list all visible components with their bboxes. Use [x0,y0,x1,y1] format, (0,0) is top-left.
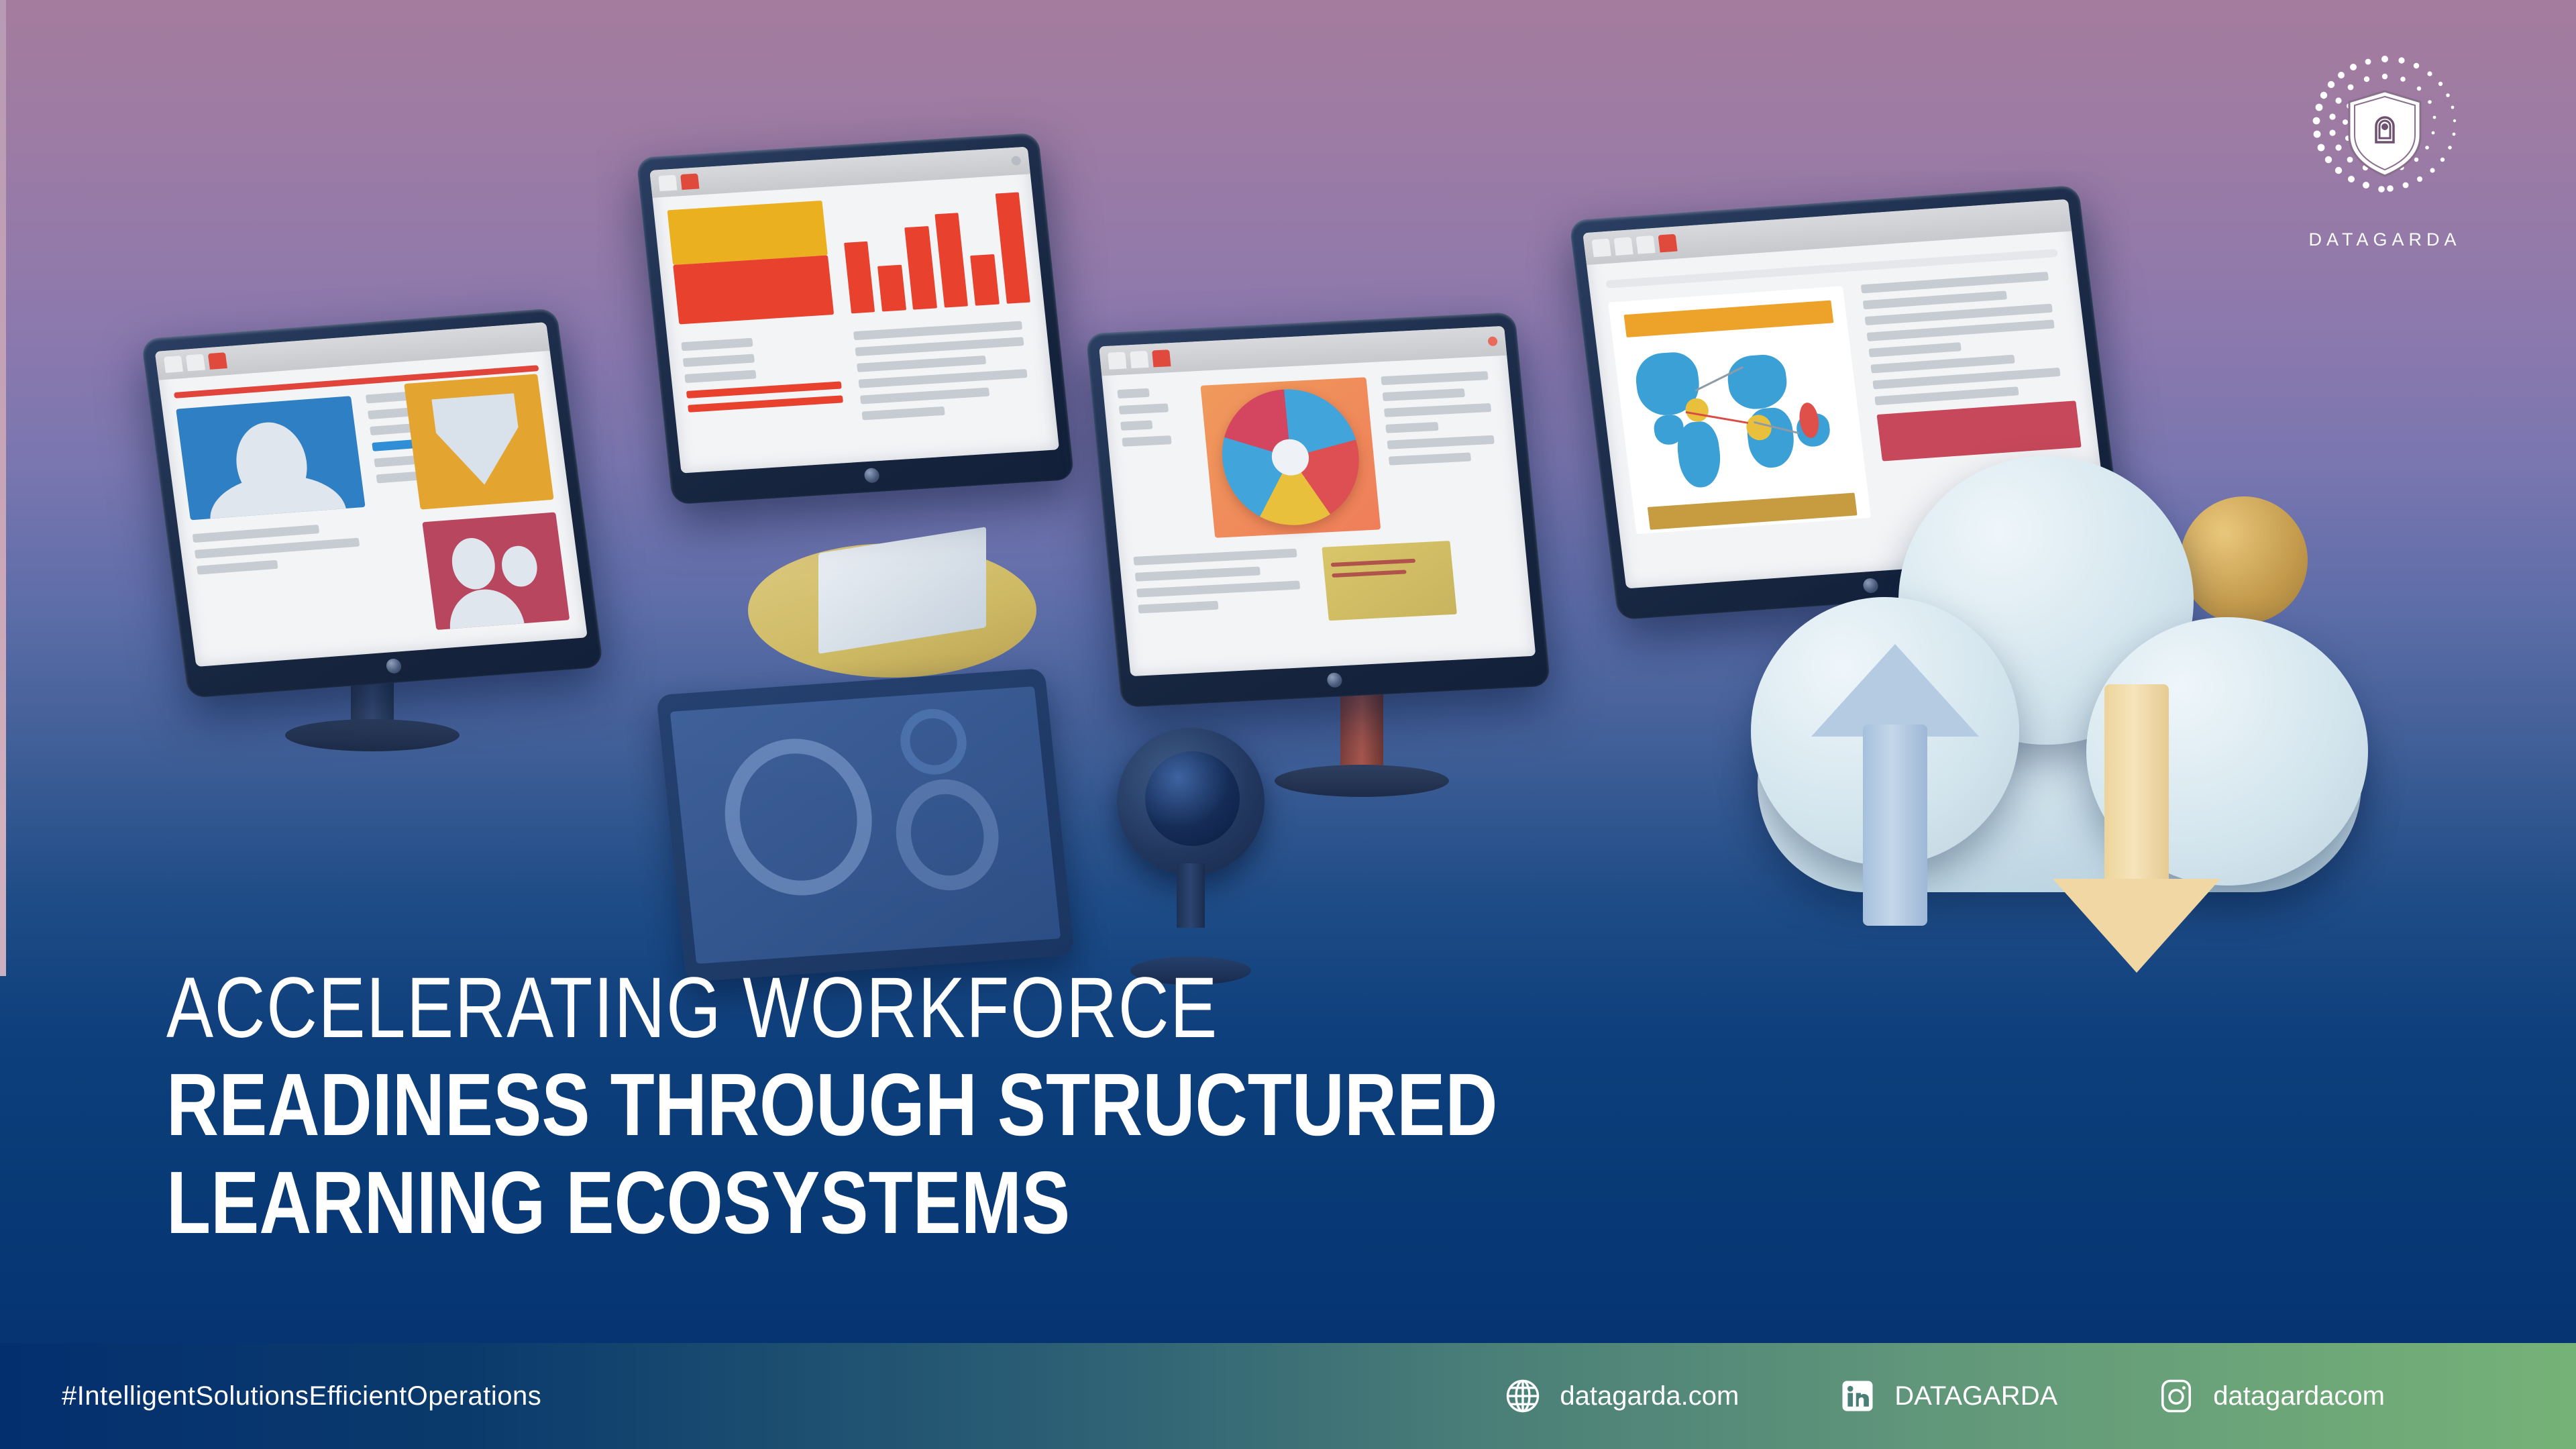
shield-card-yellow [404,374,553,510]
download-arrow-icon [2053,684,2220,973]
browser-tab-active [1152,350,1171,367]
browser-tab-active [208,353,227,370]
browser-tab [658,175,677,191]
social-link-linkedin[interactable]: DATAGARDA [1839,1378,2057,1414]
browser-tab-active [680,174,699,190]
upload-arrow-icon [1811,644,1979,926]
avatar-icon [449,537,498,590]
linkedin-icon [1839,1378,1876,1414]
headline-line-2: READINESS THROUGH STRUCTURED [166,1063,1497,1146]
bar-chart-monitor [636,133,1075,505]
browser-tab [1614,237,1633,256]
browser-tab [1592,238,1611,258]
pie-chart [1200,377,1381,538]
social-link-instagram[interactable]: datagardacom [2158,1378,2385,1414]
website-label: datagarda.com [1560,1381,1739,1411]
profile-cards-monitor [141,308,604,698]
datagarda-shield-icon [2301,47,2469,215]
tablet-device [656,668,1075,982]
avatar-body [445,586,527,629]
browser-tab [186,354,205,372]
avatar-body [205,471,349,521]
browser-tab [164,356,183,374]
profile-card-blue [176,396,366,521]
social-links: datagarda.com DATAGARDA [1505,1378,2385,1414]
browser-tab-active [1658,233,1677,253]
pie-chart-monitor [1085,312,1551,708]
banner-root: DATAGARDA ACCELERATING WORKFORCE READINE… [0,0,2576,1449]
instagram-label: datagardacom [2213,1381,2385,1411]
social-link-website[interactable]: datagarda.com [1505,1378,1739,1414]
linkedin-label: DATAGARDA [1894,1381,2057,1411]
browser-tab [1635,235,1655,255]
headline-line-3: LEARNING ECOSYSTEMS [166,1161,1497,1244]
yellow-panel [1322,541,1456,621]
team-card-red [422,513,569,630]
globe-icon [1505,1378,1541,1414]
logo-wordmark: DATAGARDA [2308,229,2461,250]
headline-line-1: ACCELERATING WORKFORCE [166,968,1497,1049]
red-panel [1877,400,2081,461]
instagram-icon [2158,1378,2194,1414]
window-control-dot [1011,156,1021,166]
cloud-sync-icon [1731,456,2442,1033]
browser-tab [1130,351,1148,368]
footer-bar: #IntelligentSolutionsEfficientOperations… [0,1343,2576,1449]
hashtag-text: #IntelligentSolutionsEfficientOperations [62,1381,541,1411]
shield-icon [431,393,525,488]
webcam-device [1117,728,1265,875]
avatar-icon [499,544,539,588]
brand-logo: DATAGARDA [2281,47,2489,250]
left-edge-accent [0,0,6,976]
browser-tab [1108,352,1126,369]
page-title: ACCELERATING WORKFORCE READINESS THROUGH… [166,968,1790,1244]
bar-chart [839,188,1030,314]
window-control-dot [1487,337,1497,347]
